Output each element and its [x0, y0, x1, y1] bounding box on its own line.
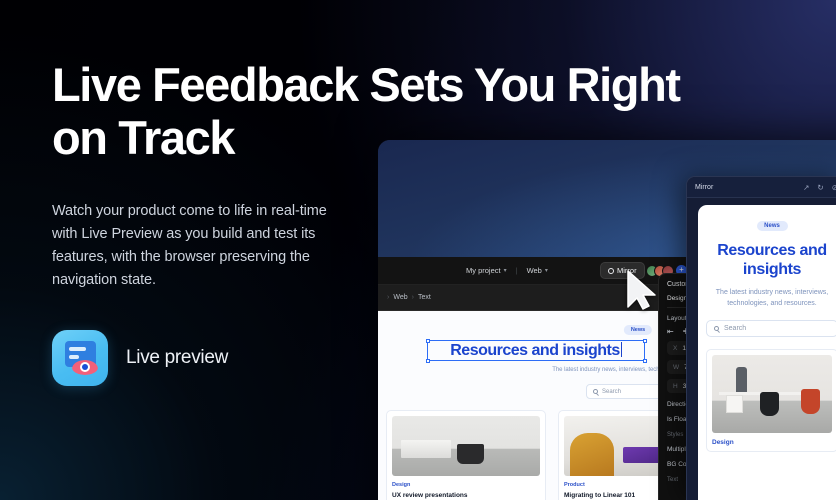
- search-icon: [593, 389, 598, 394]
- document-line-1: [69, 347, 86, 351]
- live-preview-feature: Live preview: [52, 330, 752, 386]
- card-title: UX review presentations: [392, 491, 540, 500]
- eye-pupil: [82, 364, 88, 370]
- document-line-2: [69, 355, 79, 359]
- mouse-cursor-icon: [624, 269, 658, 311]
- live-preview-icon: [52, 330, 108, 386]
- photo-chair-black: [760, 392, 779, 415]
- hero-section: Live Feedback Sets You Right on Track Wa…: [0, 0, 836, 500]
- refresh-icon[interactable]: ↻: [817, 183, 823, 192]
- card-category: Design: [392, 482, 540, 488]
- mirror-panel-icons: ↗ ↻ ⊘: [803, 183, 836, 192]
- preview-news-badge: News: [757, 221, 788, 231]
- hero-text-column: Live Feedback Sets You Right on Track Wa…: [52, 58, 752, 386]
- page-title: Live Feedback Sets You Right on Track: [52, 58, 752, 164]
- preview-card-category: Design: [712, 439, 832, 446]
- photo-chair-red: [801, 389, 820, 414]
- hero-body-text: Watch your product come to life in real-…: [52, 200, 332, 292]
- canvas-search-placeholder: Search: [602, 389, 621, 395]
- disable-icon[interactable]: ⊘: [832, 183, 836, 192]
- expand-icon[interactable]: ↗: [803, 183, 809, 192]
- card-image: [392, 416, 540, 476]
- card-item[interactable]: Design UX review presentations: [386, 410, 546, 500]
- photo-pedestal: [726, 395, 743, 414]
- live-preview-label: Live preview: [126, 347, 228, 369]
